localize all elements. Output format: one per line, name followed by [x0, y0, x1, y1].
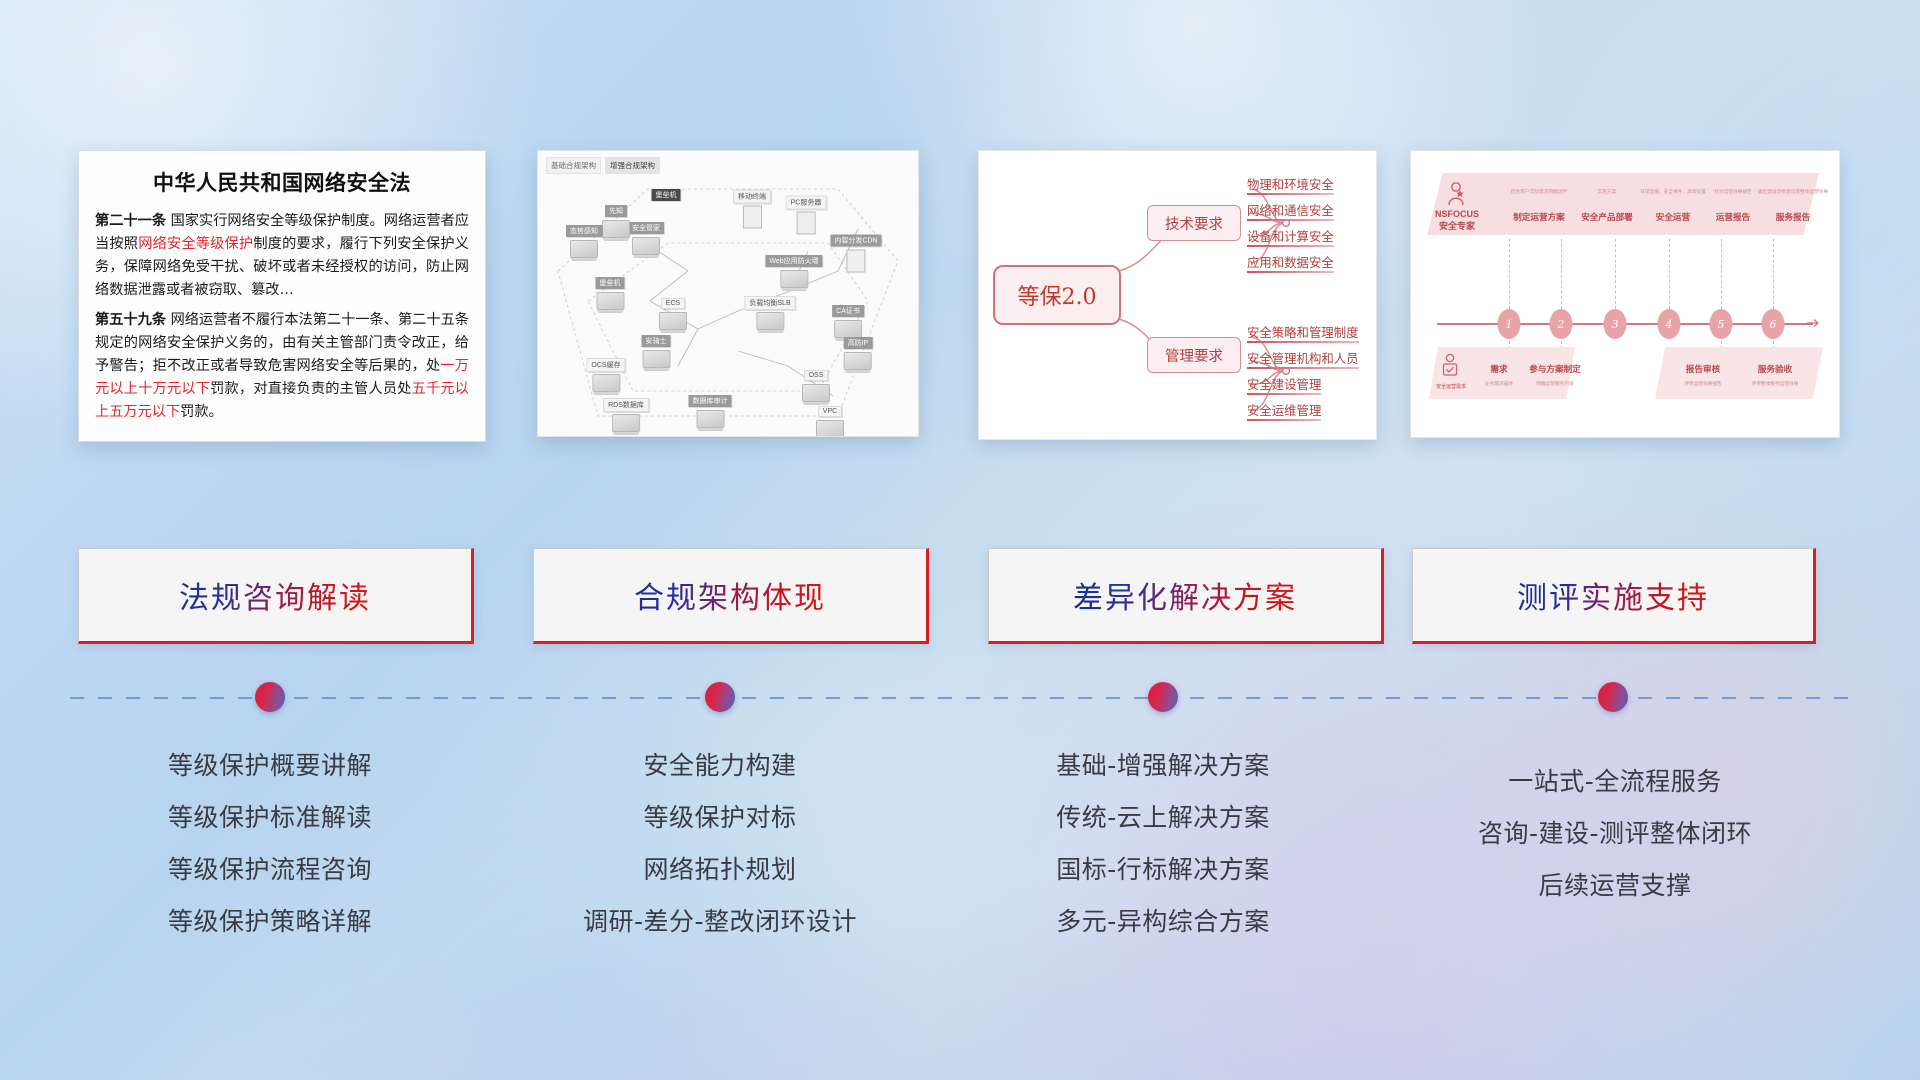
step-1-label: 制定运营方案 — [1513, 211, 1565, 223]
step-4-label: 运营报告 — [1716, 211, 1750, 223]
node-rds-database: RDS数据库 — [603, 394, 649, 432]
node-xianzhi: 先知 — [602, 200, 630, 238]
node-pc-client: PC服务器 — [786, 192, 827, 235]
step-5-label: 服务报告 — [1776, 211, 1810, 223]
slide-stage: 中华人民共和国网络安全法 第二十一条 国家实行网络安全等级保护制度。网络运营者应… — [0, 0, 1920, 1080]
customer-step-acceptance-sub: 评审整体服务运营效果 — [1752, 381, 1799, 387]
mindmap-leaf-network-comm: 网络和通信安全 — [1247, 201, 1334, 221]
mindmap-root-node[interactable]: 等保2.0 — [993, 265, 1121, 325]
list-item: 安全能力构建 — [520, 740, 920, 792]
timeline-marker-4[interactable] — [1598, 682, 1628, 712]
mindmap-leaf-app-data: 应用和数据安全 — [1247, 253, 1334, 273]
heading-label-2: 合规架构体现 — [634, 573, 826, 617]
node-load-balancer-slb: 负载均衡SLB — [744, 292, 795, 330]
node-anqishi: 安骑士 — [642, 330, 671, 368]
timeline-dashed-line — [70, 696, 1856, 700]
expert-avatar-icon — [1445, 181, 1469, 212]
step-2-subtitle: 实施方案 — [1598, 189, 1617, 195]
list-item: 等级保护流程咨询 — [70, 844, 470, 896]
card-nsfocus-timeline[interactable]: NSFOCUS 安全专家 结合客户实际需求明确边界 制定运营方案 实施方案 安全… — [1410, 150, 1840, 438]
customer-banner-right — [1655, 347, 1823, 399]
mindmap-leaf-physical-env: 物理和环境安全 — [1247, 175, 1334, 195]
node-ecs: ECS — [659, 292, 687, 330]
node-ocs-cache: OCS缓存 — [586, 354, 625, 392]
mindmap-branch-technical[interactable]: 技术要求 — [1147, 205, 1241, 241]
law-article-59: 第五十九条 网络运营者不履行本法第二十一条、第二十五条规定的网络安全保护义务的，… — [95, 309, 469, 424]
list-item: 等级保护对标 — [520, 792, 920, 844]
mindmap-leaf-org-personnel: 安全管理机构和人员 — [1247, 349, 1359, 369]
step-2-label: 安全产品部署 — [1581, 211, 1633, 223]
node-security-butler: 安全管家 — [628, 217, 664, 255]
screenshot-card-row: 中华人民共和国网络安全法 第二十一条 国家实行网络安全等级保护制度。网络运营者应… — [0, 150, 1920, 450]
timeline-marker-3[interactable] — [1148, 682, 1178, 712]
node-bastion-host: 堡垒机 — [596, 272, 625, 310]
article-21-label: 第二十一条 — [95, 213, 166, 229]
article-59-label: 第五十九条 — [95, 312, 166, 328]
list-item: 国标-行标解决方案 — [963, 844, 1363, 896]
card-cybersecurity-law[interactable]: 中华人民共和国网络安全法 第二十一条 国家实行网络安全等级保护制度。网络运营者应… — [78, 150, 486, 442]
list-item: 后续运营支撑 — [1395, 860, 1835, 912]
timeline-marker-1[interactable] — [255, 682, 285, 712]
category-heading-row: 法规咨询解读 合规架构体现 差异化解决方案 测评实施支持 — [0, 548, 1920, 644]
timeline-node-1[interactable]: 1 — [1498, 309, 1521, 339]
law-title: 中华人民共和国网络安全法 — [95, 167, 469, 197]
mindmap-leaf-device-compute: 设备和计算安全 — [1247, 227, 1334, 247]
nsfocus-brand: NSFOCUS 安全专家 — [1435, 209, 1479, 232]
step-3-subtitle: 日常运维、安全事件、高简处置 — [1640, 189, 1706, 195]
heading-label-4: 测评实施支持 — [1517, 573, 1709, 617]
timeline-marker-2[interactable] — [705, 682, 735, 712]
node-mobile-terminal: 移动终端 — [733, 186, 771, 229]
list-item: 调研-差分-整改闭环设计 — [520, 896, 920, 948]
mindmap-leaf-operation-mgmt: 安全运维管理 — [1247, 401, 1321, 421]
article-21-highlight: 网络安全等级保护 — [138, 236, 253, 252]
node-oss: OSS — [802, 364, 830, 402]
timeline-node-2[interactable]: 2 — [1550, 309, 1573, 339]
list-item: 等级保护标准解读 — [70, 792, 470, 844]
list-item: 基础-增强解决方案 — [963, 740, 1363, 792]
heading-label-3: 差异化解决方案 — [1073, 573, 1297, 617]
detail-column-2: 安全能力构建 等级保护对标 网络拓扑规划 调研-差分-整改闭环设计 — [520, 740, 920, 948]
list-item: 等级保护策略详解 — [70, 896, 470, 948]
node-situation-awareness: 态势感知 — [566, 220, 602, 258]
detail-column-3: 基础-增强解决方案 传统-云上解决方案 国标-行标解决方案 多元-异构综合方案 — [963, 740, 1363, 948]
list-item: 传统-云上解决方案 — [963, 792, 1363, 844]
card-cloud-architecture[interactable]: 基础合规架构 增强合规架构 — [537, 150, 919, 437]
node-cdn: 内容分发CDN — [830, 230, 881, 273]
node-database-audit: 数据库审计 — [689, 390, 732, 428]
node-vpc: VPC — [816, 400, 844, 437]
node-web-application-firewall: Web应用防火墙 — [765, 250, 822, 288]
heading-box-regulation-consulting[interactable]: 法规咨询解读 — [78, 548, 474, 644]
timeline-node-6[interactable]: 6 — [1762, 309, 1785, 339]
card-mindmap-dengbao[interactable]: 等保2.0 技术要求 管理要求 物理和环境安全 网络和通信安全 设备和计算安全 … — [978, 150, 1377, 440]
customer-step-demand-label: 需求 — [1490, 363, 1507, 375]
heading-box-compliance-architecture[interactable]: 合规架构体现 — [533, 548, 929, 644]
node-anti-ddos-ip: 高防IP — [844, 332, 873, 370]
detail-column-4: 一站式-全流程服务 咨询-建设-测评整体闭环 后续运营支撑 — [1395, 756, 1835, 912]
step-5-subtitle: 输出建设改善建议及整体运营效果 — [1758, 189, 1828, 195]
customer-step-participate-sub: 明确运营服务内容 — [1536, 381, 1574, 387]
customer-step-review-label: 报告审核 — [1686, 363, 1720, 375]
customer-step-acceptance-label: 服务验收 — [1758, 363, 1792, 375]
customer-step-participate-label: 参与方案制定 — [1529, 363, 1581, 375]
heading-box-evaluation-support[interactable]: 测评实施支持 — [1412, 548, 1816, 644]
list-item: 等级保护概要讲解 — [70, 740, 470, 792]
step-1-subtitle: 结合客户实际需求明确边界 — [1511, 189, 1567, 195]
list-item: 网络拓扑规划 — [520, 844, 920, 896]
article-59-text-2: 罚款，对直接负责的主管人员处 — [210, 381, 411, 397]
customer-step-demand-sub: 业务需求描述 — [1485, 381, 1513, 387]
mindmap-leaf-construction-mgmt: 安全建设管理 — [1247, 375, 1321, 395]
customer-sub: 安全运营需求 — [1436, 383, 1466, 390]
customer-avatar-icon — [1441, 353, 1461, 382]
list-item: 咨询-建设-测评整体闭环 — [1395, 808, 1835, 860]
node-public-network: 堡垒机 — [652, 184, 681, 202]
timeline-node-5[interactable]: 5 — [1710, 309, 1733, 339]
customer-step-review-sub: 评审运营效果报告 — [1684, 381, 1722, 387]
list-item: 一站式-全流程服务 — [1395, 756, 1835, 808]
article-59-text-3: 罚款。 — [180, 404, 223, 420]
nsfocus-expert-banner — [1427, 173, 1819, 235]
law-article-21: 第二十一条 国家实行网络安全等级保护制度。网络运营者应当按照网络安全等级保护制度… — [95, 210, 469, 302]
step-3-label: 安全运营 — [1656, 211, 1690, 223]
timeline-node-3[interactable]: 3 — [1604, 309, 1627, 339]
heading-label-1: 法规咨询解读 — [179, 573, 371, 617]
timeline-node-4[interactable]: 4 — [1658, 309, 1681, 339]
mindmap-leaf-policy-system: 安全策略和管理制度 — [1247, 323, 1359, 343]
step-4-subtitle: 针对运营效果报告 — [1714, 189, 1752, 195]
timeline-arrow-icon — [1807, 317, 1821, 329]
list-item: 多元-异构综合方案 — [963, 896, 1363, 948]
detail-column-1: 等级保护概要讲解 等级保护标准解读 等级保护流程咨询 等级保护策略详解 — [70, 740, 470, 948]
heading-box-differentiated-solution[interactable]: 差异化解决方案 — [988, 548, 1384, 644]
mindmap-branch-management[interactable]: 管理要求 — [1147, 337, 1241, 373]
